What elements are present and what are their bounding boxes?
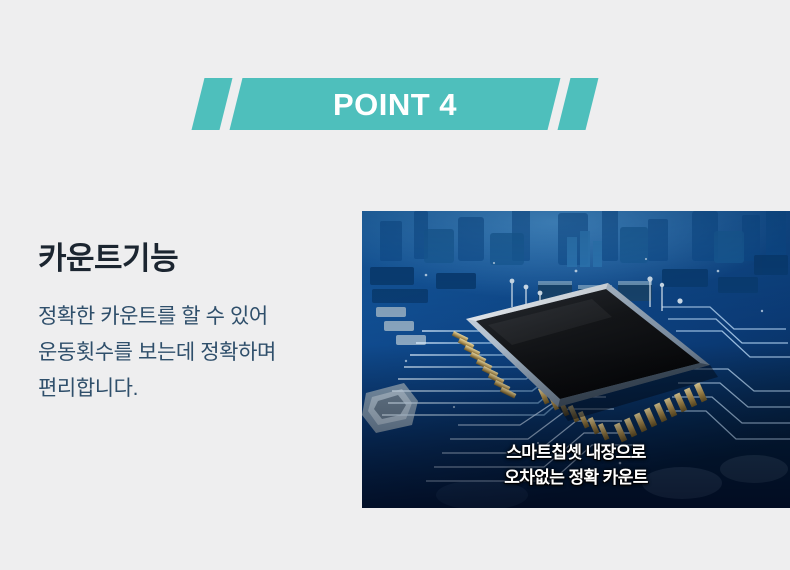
photo-caption-line: 오차없는 정확 카운트 bbox=[362, 465, 790, 490]
feature-description-line: 운동횟수를 보는데 정확하며 bbox=[38, 335, 348, 371]
feature-title: 카운트기능 bbox=[38, 240, 348, 277]
point-banner: POINT 4 bbox=[0, 78, 790, 130]
feature-description: 정확한 카운트를 할 수 있어 운동횟수를 보는데 정확하며 편리합니다. bbox=[38, 299, 348, 407]
photo-caption: 스마트칩셋 내장으로 오차없는 정확 카운트 bbox=[362, 440, 790, 490]
feature-description-line: 정확한 카운트를 할 수 있어 bbox=[38, 299, 348, 335]
feature-description-line: 편리합니다. bbox=[38, 371, 348, 407]
photo-caption-line: 스마트칩셋 내장으로 bbox=[362, 440, 790, 465]
feature-copy: 카운트기능 정확한 카운트를 할 수 있어 운동횟수를 보는데 정확하며 편리합… bbox=[38, 240, 348, 407]
banner-label: POINT 4 bbox=[0, 78, 790, 130]
circuit-board-chip-photo: 스마트칩셋 내장으로 오차없는 정확 카운트 bbox=[362, 211, 790, 508]
